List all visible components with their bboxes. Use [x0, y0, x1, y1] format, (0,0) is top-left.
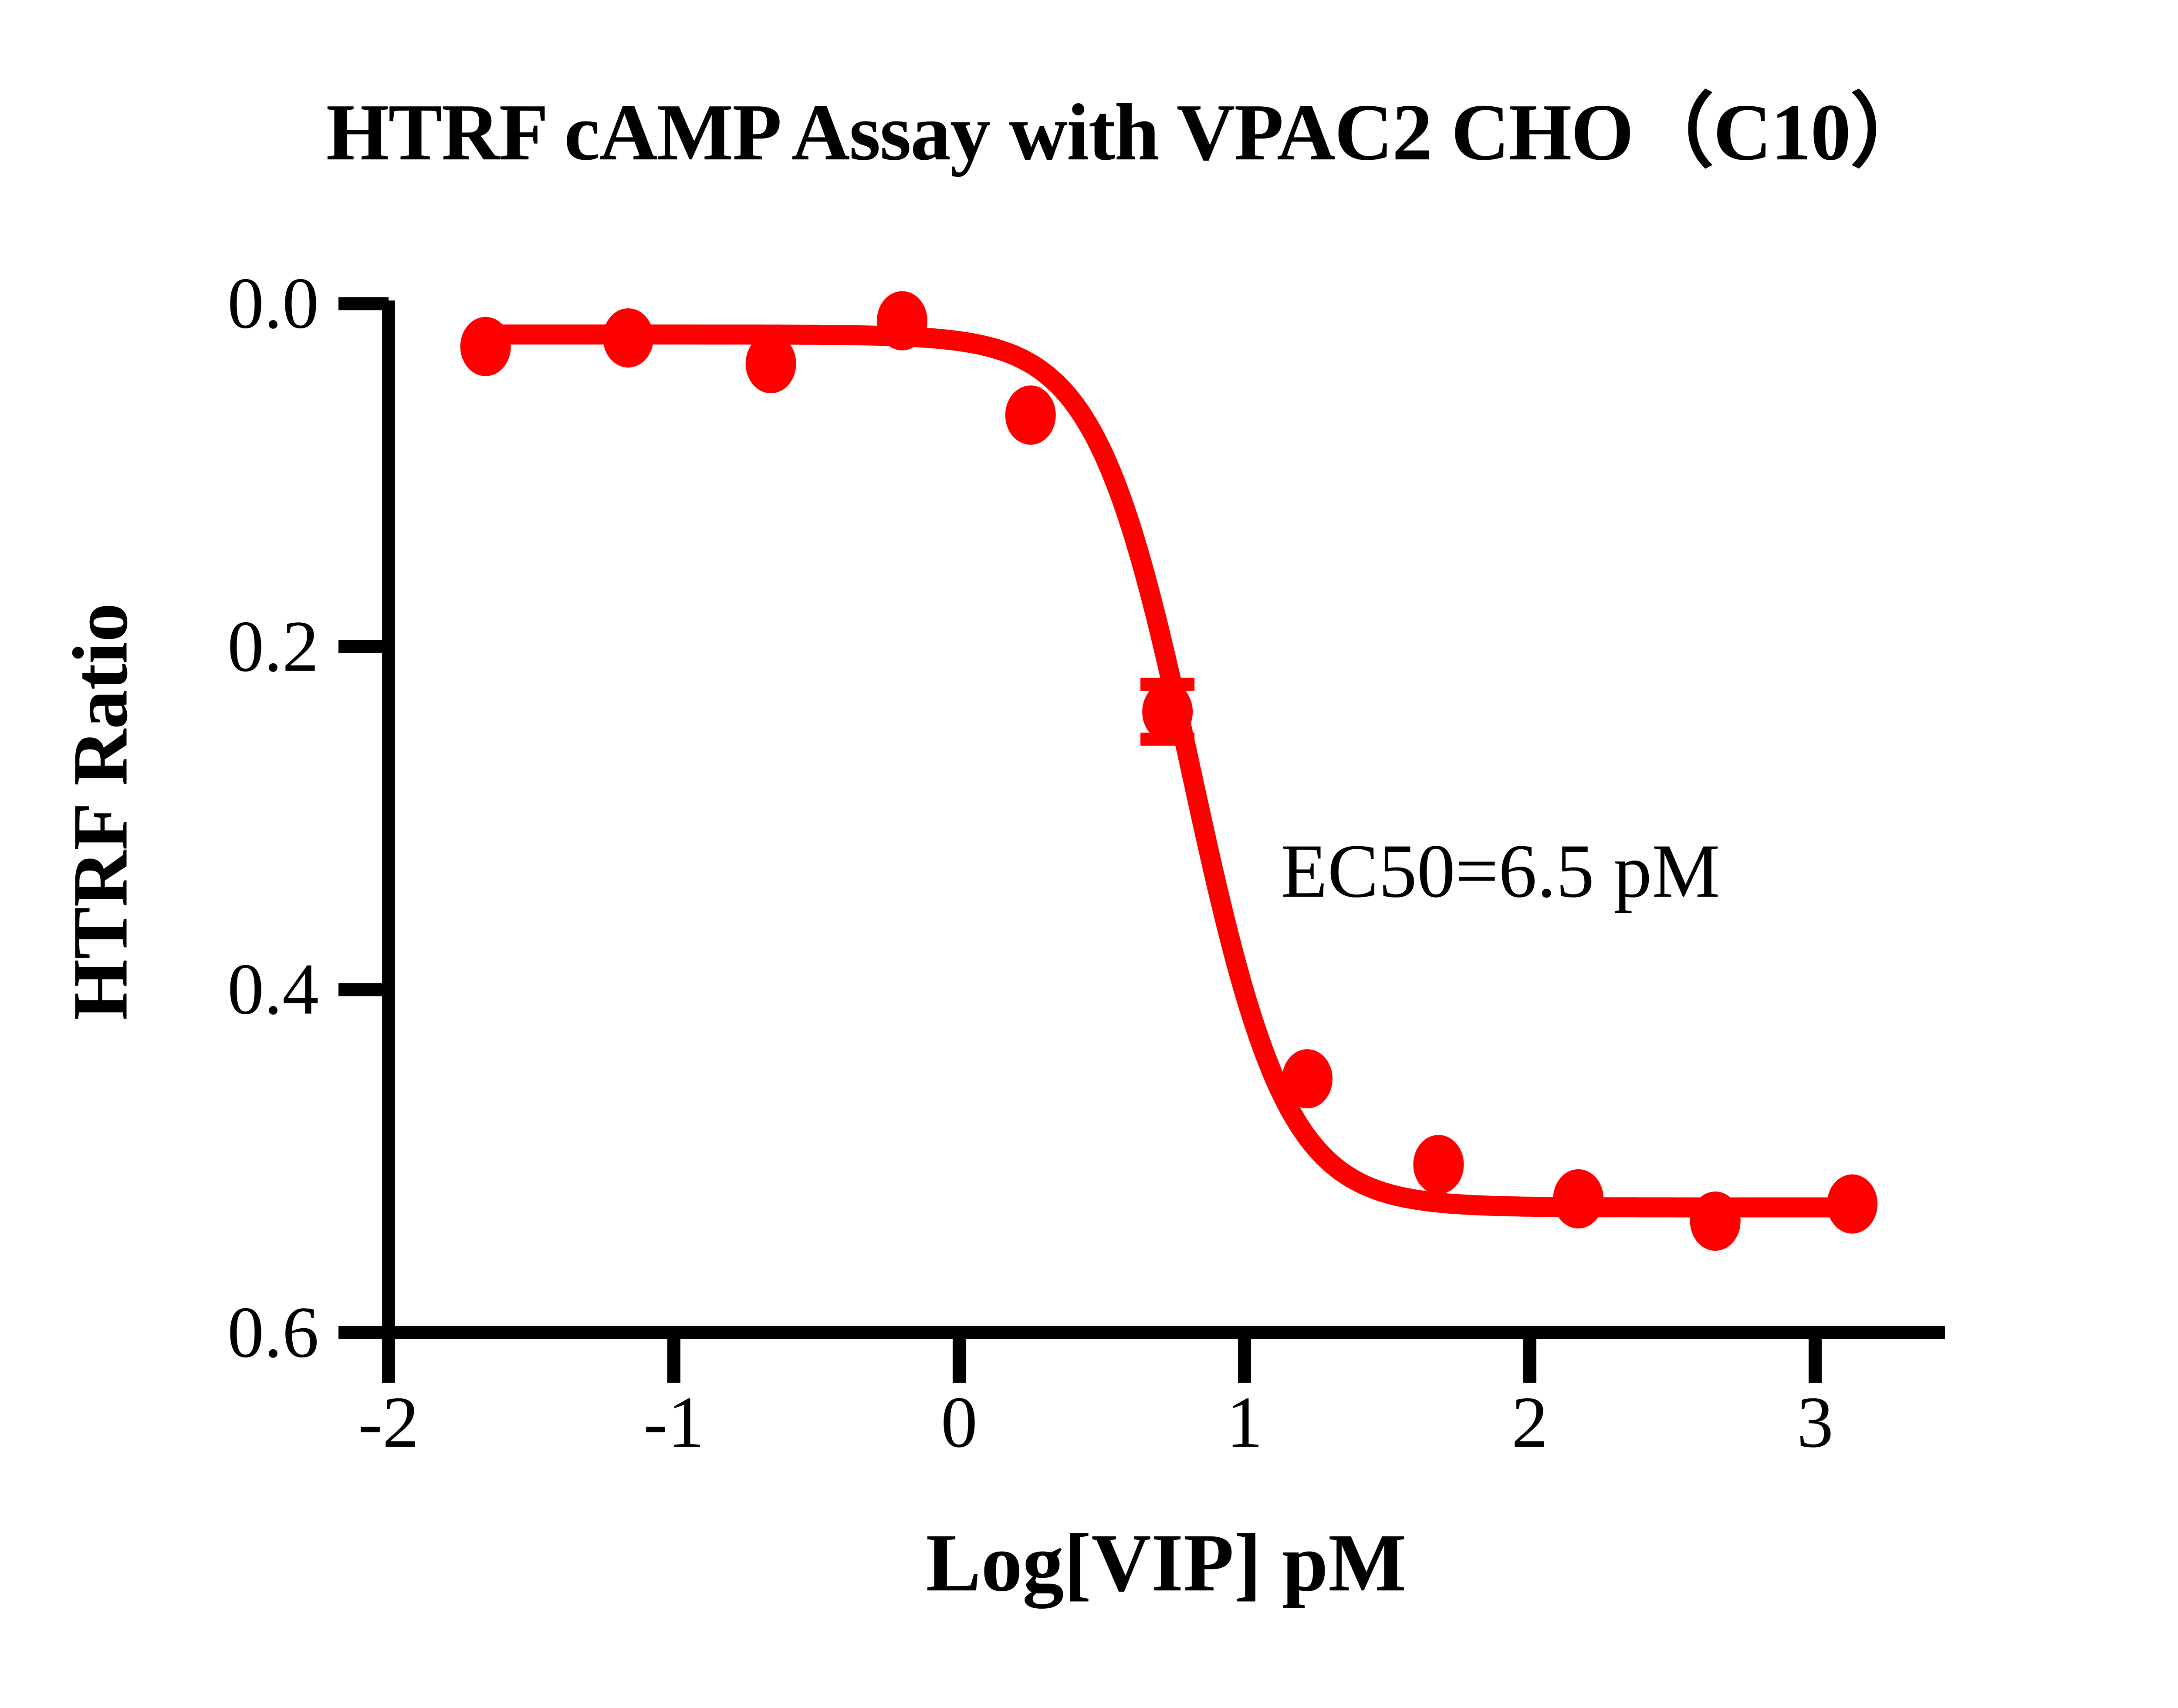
data-point-marker — [1827, 1175, 1877, 1234]
ec50-annotation: EC50=6.5 pM — [1281, 827, 1720, 915]
y-axis-tick-label: 0.4 — [75, 948, 319, 1032]
data-point-marker — [603, 308, 653, 368]
x-axis-tick-label: 3 — [1750, 1381, 1880, 1465]
x-axis-tick-label: 2 — [1464, 1381, 1595, 1465]
y-axis-tick-label: 0.6 — [75, 1291, 319, 1375]
x-axis-tick-label: -2 — [323, 1381, 454, 1465]
data-point-marker — [460, 317, 511, 376]
x-axis-tick-label: 1 — [1179, 1381, 1310, 1465]
data-point-marker — [746, 334, 796, 393]
x-axis-tick-label: 0 — [894, 1381, 1025, 1465]
fit-curve — [474, 334, 1867, 1207]
data-point-marker — [1282, 1049, 1333, 1108]
y-axis-tick-label: 0.2 — [75, 604, 319, 689]
data-point-marker — [1005, 385, 1056, 445]
data-point-marker — [1142, 682, 1193, 741]
data-point-marker — [1690, 1192, 1741, 1251]
data-point-marker — [1413, 1135, 1464, 1194]
chart-root: HTRF cAMP Assay with VPAC2 CHO（C10） HTRF… — [0, 0, 2178, 1708]
data-point-marker — [1553, 1169, 1603, 1229]
x-axis-title: Log[VIP] pM — [389, 1516, 1944, 1610]
x-axis-tick-label: -1 — [609, 1381, 739, 1465]
data-point-marker — [877, 291, 927, 351]
y-axis-tick-label: 0.0 — [75, 262, 319, 346]
